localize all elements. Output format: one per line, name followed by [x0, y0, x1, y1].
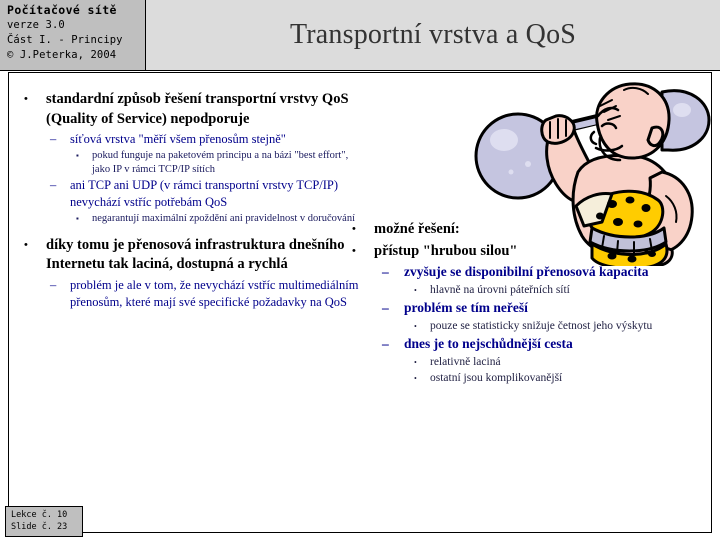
list-item-label: negarantují maximální zpoždění ani pravi… [92, 212, 364, 226]
bullet-dot-icon: • [352, 242, 374, 262]
bullet-small-dot-icon: • [414, 355, 430, 370]
list-item: – problém se tím neřeší [382, 299, 712, 317]
bullet-dash-icon: – [50, 277, 70, 294]
list-item: • standardní způsob řešení transportní v… [24, 90, 364, 129]
list-item-label: pouze se statisticky snižuje četnost jeh… [430, 319, 712, 334]
bullet-small-dot-icon: • [414, 371, 430, 386]
list-item-label: ostatní jsou komplikovanější [430, 371, 712, 386]
list-item: – síťová vrstva "měří všem přenosům stej… [50, 131, 364, 148]
list-item: ▪ negarantují maximální zpoždění ani pra… [76, 212, 364, 226]
lecture-number: Lekce č. 10 [11, 509, 82, 521]
course-title: Počítačové sítě [7, 3, 145, 18]
bullet-dash-icon: – [50, 131, 70, 148]
course-part: Část I. - Principy [7, 33, 145, 48]
slide-footer-box: Lekce č. 10 Slide č. 23 [5, 506, 83, 537]
list-item-label: problém je ale v tom, že nevychází vstří… [70, 277, 364, 311]
bullet-square-icon: ▪ [76, 149, 92, 163]
list-item-label: relativně laciná [430, 355, 712, 370]
course-copyright: © J.Peterka, 2004 [7, 48, 145, 63]
list-item: • pouze se statisticky snižuje četnost j… [414, 319, 712, 334]
list-item-label: díky tomu je přenosová infrastruktura dn… [46, 236, 364, 275]
bullet-small-dot-icon: • [414, 283, 430, 298]
list-item-label: problém se tím neřeší [404, 299, 712, 317]
bullet-dash-icon: – [382, 263, 404, 281]
slide-number: Slide č. 23 [11, 521, 82, 533]
bullet-dot-icon: • [352, 220, 374, 240]
left-bullet-column: • standardní způsob řešení transportní v… [24, 90, 364, 312]
bullet-dot-icon: • [24, 236, 46, 256]
course-info-box: Počítačové sítě verze 3.0 Část I. - Prin… [0, 0, 146, 70]
list-item: – problém je ale v tom, že nevychází vst… [50, 277, 364, 311]
list-item-label: pokud funguje na paketovém principu a na… [92, 149, 364, 176]
strongman-cartoon-illustration [466, 76, 716, 266]
bullet-dot-icon: • [24, 90, 46, 110]
bullet-small-dot-icon: • [414, 319, 430, 334]
list-item-label: síťová vrstva "měří všem přenosům stejně… [70, 131, 364, 148]
bullet-dash-icon: – [382, 335, 404, 353]
course-version: verze 3.0 [7, 18, 145, 33]
list-item: • díky tomu je přenosová infrastruktura … [24, 236, 364, 275]
list-item-label: hlavně na úrovni páteřních sítí [430, 283, 712, 298]
page-title: Transportní vrstva a QoS [146, 0, 720, 70]
list-item-label: dnes je to nejschůdnější cesta [404, 335, 712, 353]
list-item: – ani TCP ani UDP (v rámci transportní v… [50, 177, 364, 211]
bullet-square-icon: ▪ [76, 212, 92, 226]
bullet-dash-icon: – [50, 177, 70, 194]
list-item: ▪ pokud funguje na paketovém principu a … [76, 149, 364, 176]
list-item: • hlavně na úrovni páteřních sítí [414, 283, 712, 298]
slide-header: Počítačové sítě verze 3.0 Část I. - Prin… [0, 0, 720, 71]
list-item: • relativně laciná [414, 355, 712, 370]
list-item-label: ani TCP ani UDP (v rámci transportní vrs… [70, 177, 364, 211]
list-item: • ostatní jsou komplikovanější [414, 371, 712, 386]
list-item-label: standardní způsob řešení transportní vrs… [46, 90, 364, 129]
bullet-dash-icon: – [382, 299, 404, 317]
list-item: – dnes je to nejschůdnější cesta [382, 335, 712, 353]
